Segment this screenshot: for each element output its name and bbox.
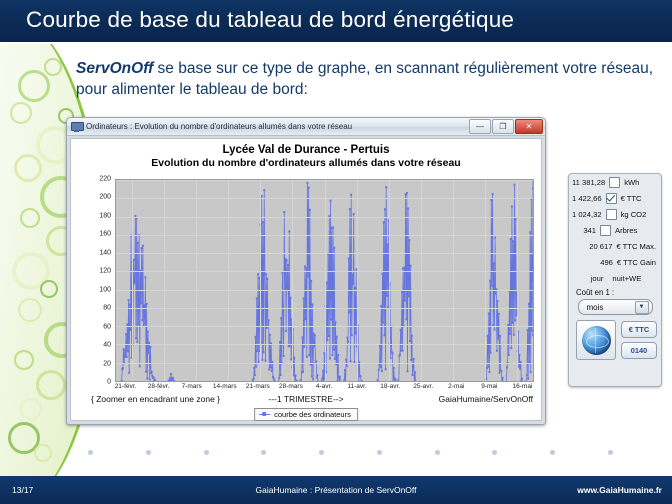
cost-period-select[interactable]: mois ▼ [578,299,653,315]
toggle-label: jour [591,274,604,283]
gridline-v [196,180,197,381]
y-tick-label: 220 [99,176,111,183]
decorative-circle [10,102,32,124]
summary-value: 20 617 [589,242,612,251]
window-title: Ordinateurs : Evolution du nombre d'ordi… [86,122,352,131]
metric-row[interactable]: 1 422,66€ TTC [569,190,661,206]
x-tick-label: 28-févr. [148,383,170,390]
y-tick-label: 120 [99,268,111,275]
metric-row[interactable]: 1 024,32kg CO2 [569,206,661,222]
panel-action-buttons: € TTC 0140 [621,321,657,359]
summary-row: 20 617€ TTC Max. [569,238,661,254]
decorative-circle [40,280,58,298]
gridline-v [164,180,165,381]
metric-value: 1 024,32 [572,210,602,219]
y-axis-ticks: 020406080100120140160180200220 [87,179,113,382]
x-tick-label: 11-avr. [347,383,366,390]
decorative-dot [146,450,151,455]
zoom-hint: { Zoomer en encadrant une zone } [91,394,220,404]
y-tick-label: 100 [99,286,111,293]
intro-text: se base sur ce type de graphe, en scanna… [76,60,653,98]
gridline-v [228,180,229,381]
summary-label: € TTC Max. [616,242,656,251]
metric-label: Arbres [615,226,656,235]
gridline-v [292,180,293,381]
toggle-nuitwe[interactable]: nuit+WE [610,274,641,283]
gridline-v [517,180,518,381]
slide-canvas: Courbe de base du tableau de bord énergé… [0,0,672,504]
code-0140-button[interactable]: 0140 [621,342,657,359]
summary-rows: 20 617€ TTC Max.496€ TTC Gain [569,238,661,270]
x-axis-ticks: 21-févr.28-févr.7-mars14-mars21-mars28-m… [109,383,539,394]
decorative-circle [18,70,50,102]
gridline-v [485,180,486,381]
chart-credit: GaiaHumaine/ServOnOff [439,394,533,404]
panel-bottom: € TTC 0140 [569,315,661,360]
x-tick-label: 21-mars [246,383,270,390]
decorative-dot [608,450,613,455]
globe-icon [582,326,611,355]
toggle-jour[interactable]: jour [589,274,604,283]
window-body: Lycée Val de Durance - Pertuis Evolution… [70,138,542,421]
footer-center-text: GaiaHumaine : Présentation de ServOnOff [256,485,417,495]
plot-wrapper: --Nombre d'ordinateurs--> 02040608010012… [77,179,536,382]
metric-checkbox[interactable] [606,209,617,220]
minimize-button[interactable]: — [469,119,491,134]
metric-label: kWh [624,178,656,187]
dashboard-panel[interactable]: 11 381,28kWh1 422,66€ TTC1 024,32kg CO23… [568,173,662,387]
window-titlebar[interactable]: Ordinateurs : Evolution du nombre d'ordi… [67,118,545,136]
metric-value: 11 381,28 [572,178,605,187]
decorative-dot [319,450,324,455]
chart-legend[interactable]: courbe des ordinateurs [254,408,358,421]
decorative-circle [14,154,42,182]
gridline-h [116,381,533,382]
y-tick-label: 60 [103,323,111,330]
gridline-v [453,180,454,381]
metric-row[interactable]: 341Arbres [569,222,661,238]
euro-ttc-button[interactable]: € TTC [621,321,657,338]
globe-button[interactable] [576,320,616,360]
gridline-v [132,180,133,381]
decorative-circle [36,370,66,400]
gridline-v [325,180,326,381]
period-toggles: journuit+WE [569,270,661,287]
cost-label: Coût en 1 : [569,288,661,297]
page-number: 13/17 [12,485,33,495]
metric-value: 1 422,66 [572,194,602,203]
x-tick-label: 28-mars [279,383,303,390]
chart-subtitle: Evolution du nombre d'ordinateurs allumé… [71,157,541,169]
gridline-v [421,180,422,381]
intro-paragraph: ServOnOff se base sur ce type de graphe,… [76,58,656,100]
cost-period-value: mois [587,303,604,312]
metric-checkbox[interactable] [600,225,611,236]
chart-title: Lycée Val de Durance - Pertuis [71,144,541,156]
metric-rows: 11 381,28kWh1 422,66€ TTC1 024,32kg CO23… [569,174,661,238]
decorative-circle [34,444,52,462]
y-tick-label: 80 [103,305,111,312]
decorative-circle [12,252,50,290]
gridline-v [357,180,358,381]
decorative-circle [8,422,40,454]
chevron-down-icon[interactable]: ▼ [635,301,649,314]
decorative-circle [18,298,42,322]
y-tick-label: 160 [99,231,111,238]
x-axis-label: ---1 TRIMESTRE--> [268,394,343,404]
x-tick-label: 4-avr. [316,383,332,390]
decorative-dot [377,450,382,455]
decorative-dot [492,450,497,455]
metric-value: 341 [583,226,596,235]
app-window[interactable]: Ordinateurs : Evolution du nombre d'ordi… [66,117,546,425]
x-tick-label: 25-avr. [413,383,433,390]
y-tick-label: 140 [99,249,111,256]
gridline-v [260,180,261,381]
chart-footnotes: { Zoomer en encadrant une zone } ---1 TR… [77,394,535,406]
decorative-dot-row [88,450,608,458]
footer-website: www.GaiaHumaine.fr [577,485,662,495]
metric-checkbox[interactable] [609,177,620,188]
x-tick-label: 18-avr. [380,383,400,390]
maximize-button[interactable]: ❐ [492,119,514,134]
decorative-circle [20,208,40,228]
metric-label: € TTC [621,194,656,203]
decorative-circle [20,398,42,420]
y-tick-label: 180 [99,212,111,219]
decorative-circle [14,350,34,370]
decorative-dot [550,450,555,455]
slide-title-bar: Courbe de base du tableau de bord énergé… [0,0,672,44]
x-tick-label: 7-mars [182,383,202,390]
toggle-label: nuit+WE [612,274,641,283]
decorative-circle [44,58,62,76]
decorative-dot [261,450,266,455]
y-tick-label: 40 [103,342,111,349]
metric-row[interactable]: 11 381,28kWh [569,174,661,190]
x-tick-label: 2-mai [448,383,464,390]
y-tick-label: 200 [99,194,111,201]
legend-label: courbe des ordinateurs [274,410,351,419]
slide-footer: 13/17 GaiaHumaine : Présentation de Serv… [0,476,672,504]
summary-value: 496 [600,258,613,267]
intro-product-name: ServOnOff [76,60,153,77]
close-button[interactable]: ✕ [515,119,543,134]
metric-checkbox[interactable] [606,193,617,204]
x-tick-label: 16-mai [513,383,533,390]
decorative-dot [204,450,209,455]
monitor-icon [71,121,82,132]
page-title: Courbe de base du tableau de bord énergé… [0,0,672,33]
legend-marker-icon [259,411,270,418]
decorative-dot [435,450,440,455]
plot-area[interactable] [115,179,534,382]
y-tick-label: 20 [103,360,111,367]
x-tick-label: 9-mai [481,383,497,390]
summary-row: 496€ TTC Gain [569,254,661,270]
gridline-v [389,180,390,381]
decorative-dot [88,450,93,455]
summary-label: € TTC Gain [617,258,656,267]
window-controls: — ❐ ✕ [469,119,543,134]
x-tick-label: 14-mars [213,383,237,390]
metric-label: kg CO2 [621,210,656,219]
x-tick-label: 21-févr. [115,383,137,390]
